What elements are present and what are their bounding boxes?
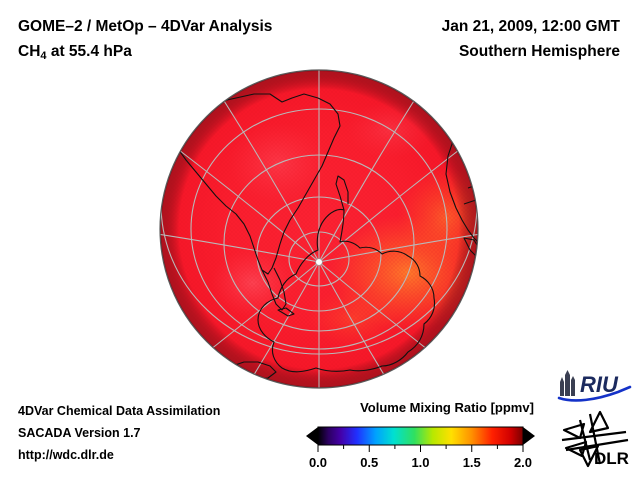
figure-canvas: GOME–2 / MetOp – 4DVar Analysis CH4 at 5… (0, 0, 640, 480)
hemisphere-label: Southern Hemisphere (442, 39, 620, 64)
colorbar-ticks (318, 445, 523, 452)
colorbar-arrow-high (523, 427, 535, 445)
riu-skyline-icon (560, 370, 575, 396)
dlr-wordmark: DLR (594, 449, 629, 468)
footer-line-product: 4DVar Chemical Data Assimilation (18, 400, 220, 422)
colorbar-title: Volume Mixing Ratio [ppmv] (322, 400, 572, 415)
riu-logo-svg: RIU (556, 370, 634, 402)
timestamp-label: Jan 21, 2009, 12:00 GMT (442, 14, 620, 39)
header-left: GOME–2 / MetOp – 4DVar Analysis CH4 at 5… (18, 14, 272, 69)
species-name: CH (18, 43, 40, 60)
pressure-level: at 55.4 hPa (47, 43, 132, 60)
colorbar-tick-label: 0.5 (360, 455, 378, 470)
colorbar: Volume Mixing Ratio [ppmv] (300, 400, 550, 475)
coastline-tasmania (264, 382, 274, 390)
colorbar-tick-label: 1.0 (411, 455, 429, 470)
species-level-label: CH4 at 55.4 hPa (18, 39, 272, 69)
dlr-logo: DLR (560, 410, 632, 473)
riu-logo: RIU (556, 370, 634, 407)
colorbar-svg[interactable]: 0.0 0.5 1.0 1.5 2.0 (300, 419, 550, 475)
colorbar-tick-label: 0.0 (309, 455, 327, 470)
header-right: Jan 21, 2009, 12:00 GMT Southern Hemisph… (442, 14, 620, 64)
footer-text: 4DVar Chemical Data Assimilation SACADA … (18, 400, 220, 466)
footer-line-url[interactable]: http://wdc.dlr.de (18, 444, 220, 466)
colorbar-tick-label: 1.5 (463, 455, 481, 470)
page-title: GOME–2 / MetOp – 4DVar Analysis (18, 14, 272, 39)
colorbar-arrow-low (306, 427, 318, 445)
dlr-logo-svg: DLR (560, 410, 632, 468)
globe-svg (158, 68, 480, 390)
coastline-new-zealand (200, 356, 214, 370)
globe-map (158, 68, 480, 390)
colorbar-gradient (318, 427, 523, 445)
colorbar-tick-label: 2.0 (514, 455, 532, 470)
colorbar-tick-labels: 0.0 0.5 1.0 1.5 2.0 (309, 455, 532, 470)
south-pole-marker (316, 259, 323, 266)
footer-line-version: SACADA Version 1.7 (18, 422, 220, 444)
